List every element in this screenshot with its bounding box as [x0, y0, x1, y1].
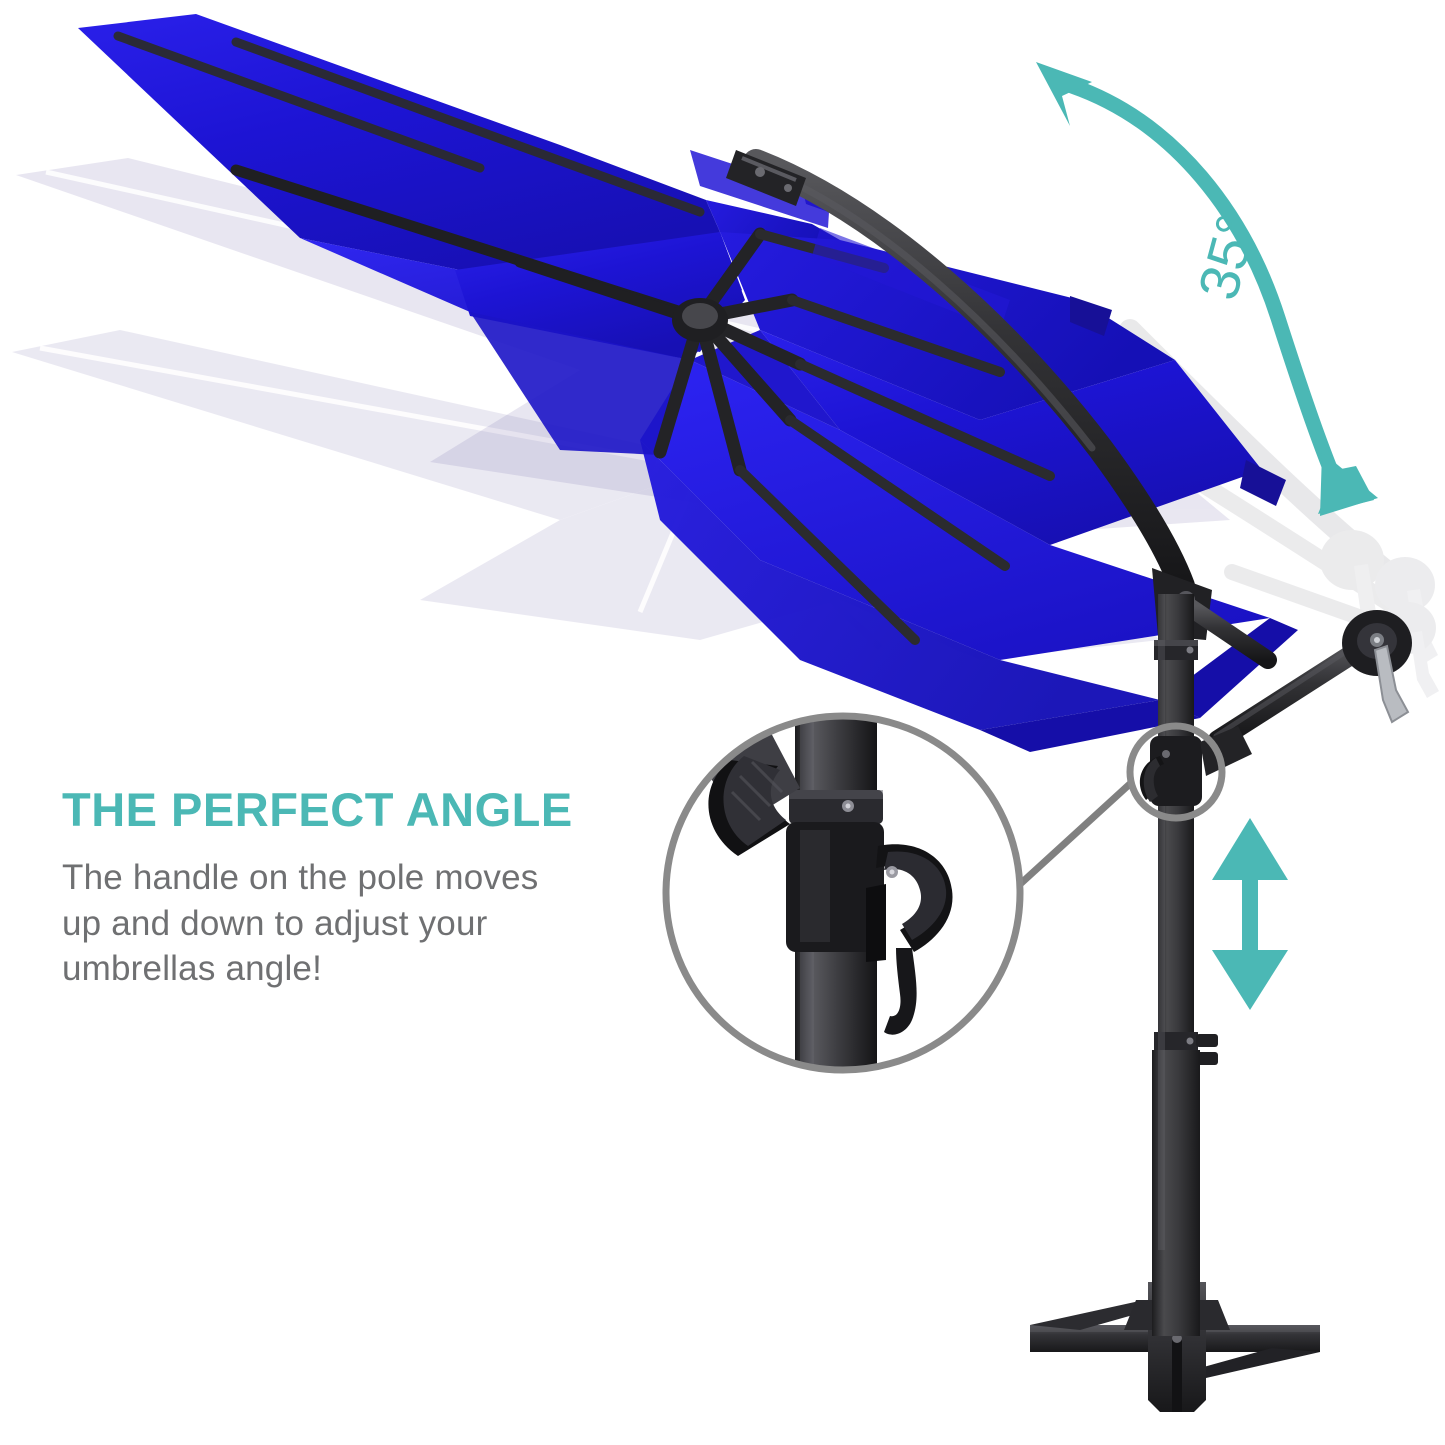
- body-line-3: umbrellas angle!: [62, 949, 322, 988]
- page-title: THE PERFECT ANGLE: [62, 786, 652, 833]
- product-illustration: 35°: [0, 0, 1445, 1445]
- angle-label: 35°: [1186, 208, 1269, 306]
- pole-clamp-lever: [1140, 726, 1252, 806]
- crank-handle: [1342, 610, 1412, 722]
- body-line-2: up and down to adjust your: [62, 904, 488, 943]
- callout-detail-view: [666, 700, 1020, 1100]
- canopy-hub: [672, 298, 728, 342]
- infographic-canvas: 35°: [0, 0, 1445, 1445]
- body-line-1: The handle on the pole moves: [62, 858, 538, 897]
- copy-block: THE PERFECT ANGLE The handle on the pole…: [62, 786, 652, 992]
- body-text: The handle on the pole moves up and down…: [62, 855, 652, 992]
- callout-connector: [1018, 782, 1132, 886]
- cross-base: [1030, 1250, 1320, 1412]
- height-arrow[interactable]: [1212, 818, 1288, 1010]
